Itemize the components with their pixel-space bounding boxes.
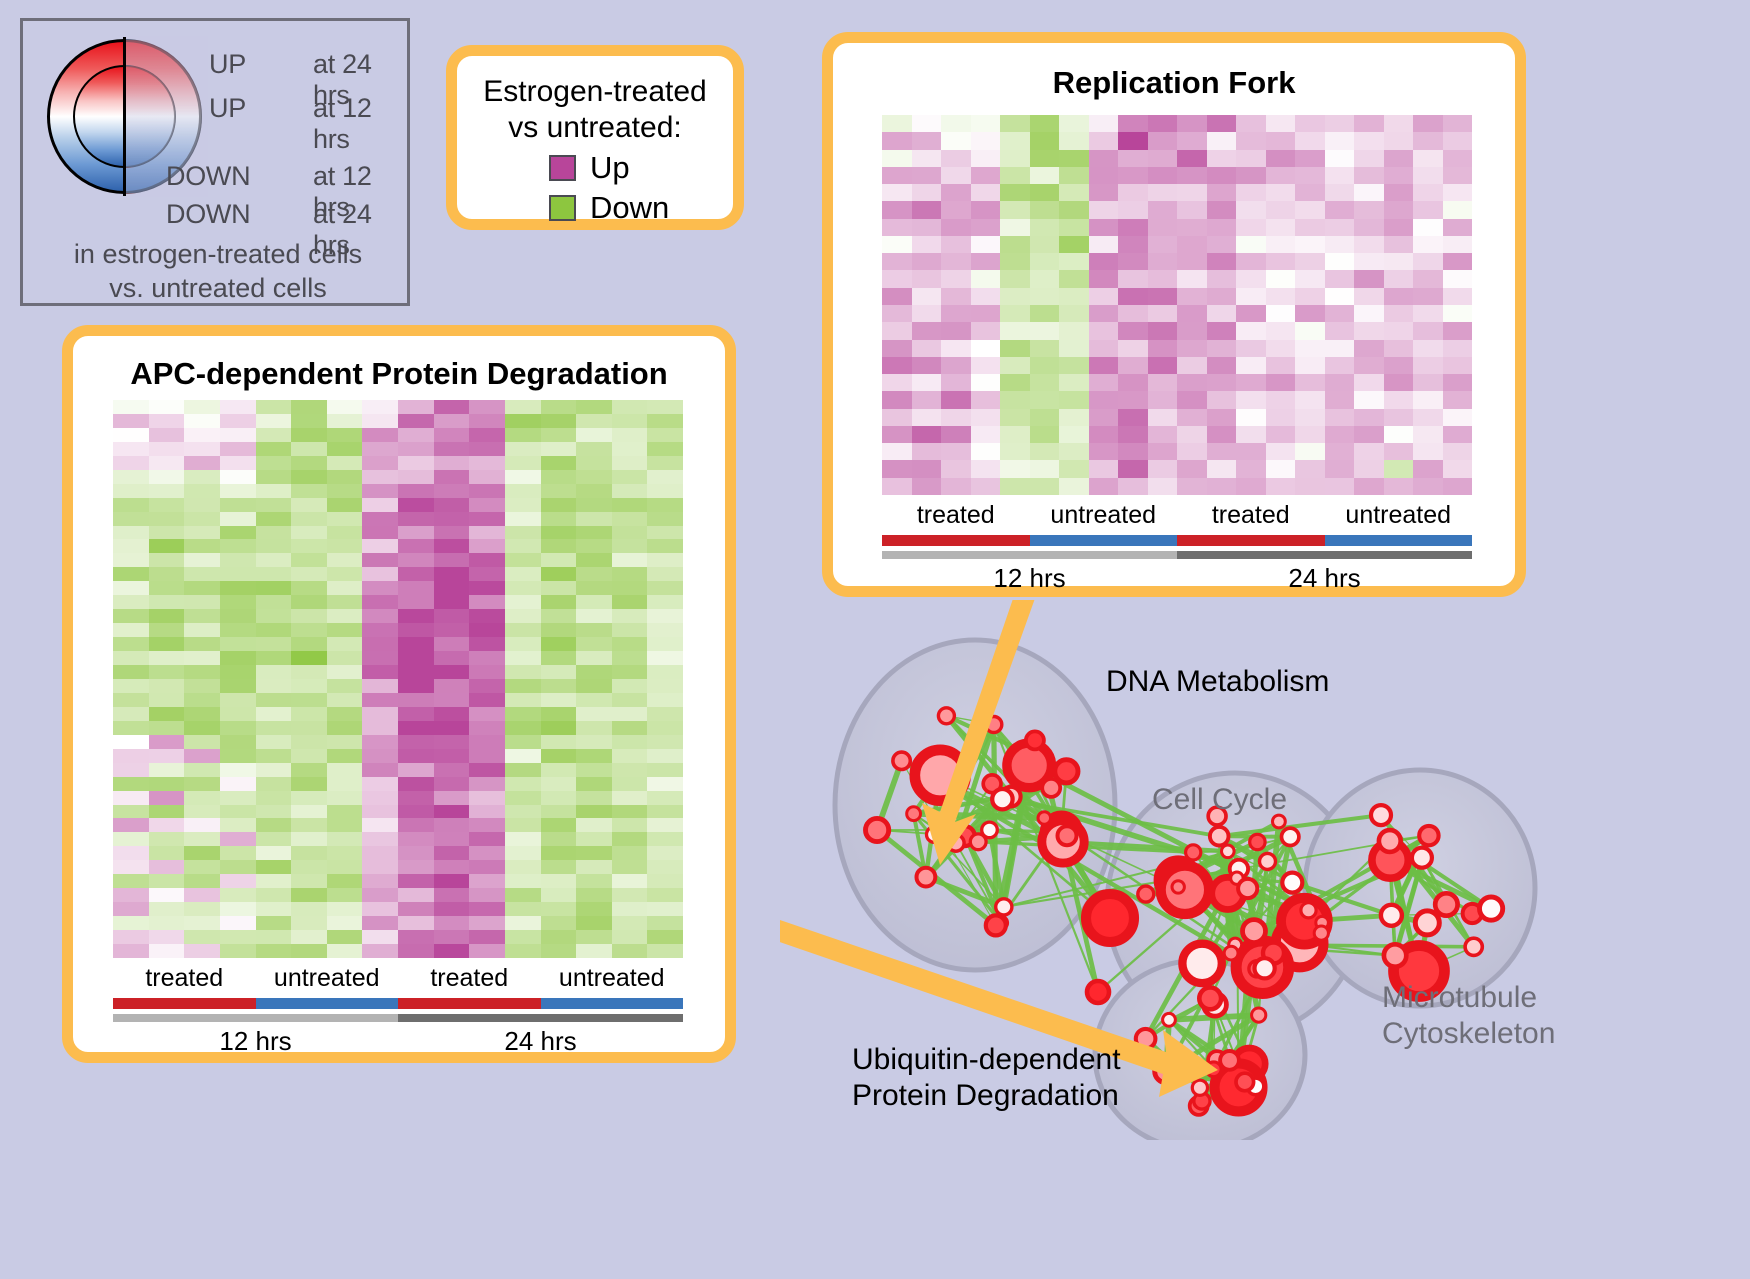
heatmap-cell xyxy=(1443,201,1473,218)
heatmap-cell xyxy=(1354,132,1384,149)
heatmap-cell xyxy=(327,651,363,665)
network-node[interactable] xyxy=(1220,1051,1239,1070)
heatmap-cell xyxy=(220,902,256,916)
heatmap-cell xyxy=(1030,219,1060,236)
heatmap-cell xyxy=(434,902,470,916)
heatmap-cell xyxy=(971,184,1001,201)
heatmap-cell xyxy=(1059,115,1089,132)
network-node[interactable] xyxy=(1260,853,1276,869)
heatmap-cell xyxy=(505,665,541,679)
heatmap-cell xyxy=(149,442,185,456)
heatmap-cell xyxy=(612,512,648,526)
heatmap-cell xyxy=(1354,184,1384,201)
heatmap-cell xyxy=(505,456,541,470)
heatmap-cell xyxy=(184,707,220,721)
network-node[interactable] xyxy=(1087,981,1109,1003)
heatmap-cell xyxy=(327,609,363,623)
heatmap-cell xyxy=(541,400,577,414)
heatmap-cell xyxy=(1059,409,1089,426)
heatmap-cell xyxy=(541,749,577,763)
network-node[interactable] xyxy=(982,822,998,838)
heatmap-cell xyxy=(912,340,942,357)
heatmap-cell xyxy=(1443,115,1473,132)
heatmap-cell xyxy=(434,553,470,567)
heatmap-cell xyxy=(1443,391,1473,408)
network-node[interactable] xyxy=(1379,830,1401,852)
heatmap-cell xyxy=(1266,426,1296,443)
heatmap-cell xyxy=(541,805,577,819)
heatmap-cell xyxy=(220,456,256,470)
network-node[interactable] xyxy=(1465,938,1482,955)
heatmap-cell xyxy=(541,916,577,930)
sample-label: treated xyxy=(1177,501,1325,530)
heatmap-cell xyxy=(1443,167,1473,184)
heatmap-cell xyxy=(362,693,398,707)
heatmap-cell xyxy=(1030,288,1060,305)
heatmap-cell xyxy=(1000,270,1030,287)
heatmap-cell xyxy=(113,832,149,846)
heatmap-cell xyxy=(1177,357,1207,374)
heatmap-cell xyxy=(1148,426,1178,443)
heatmap-cell xyxy=(291,623,327,637)
heatmap-cell xyxy=(362,567,398,581)
heatmap-cell xyxy=(882,340,912,357)
heatmap-cell xyxy=(327,902,363,916)
heatmap-cell xyxy=(1030,150,1060,167)
heatmap-cell xyxy=(505,791,541,805)
heatmap-cell xyxy=(398,581,434,595)
heatmap-cell xyxy=(1059,150,1089,167)
heatmap-cell xyxy=(398,721,434,735)
heatmap-cell xyxy=(612,860,648,874)
heatmap-cell xyxy=(1000,201,1030,218)
heatmap-cell xyxy=(184,665,220,679)
heatmap-cell xyxy=(469,442,505,456)
heatmap-cell xyxy=(576,721,612,735)
heatmap-cell xyxy=(256,400,292,414)
heatmap-cell xyxy=(1118,374,1148,391)
network-node[interactable] xyxy=(1419,826,1438,845)
heatmap-cell xyxy=(1295,132,1325,149)
heatmap-cell xyxy=(434,526,470,540)
heatmap-cell xyxy=(1118,236,1148,253)
heatmap-cell xyxy=(327,805,363,819)
heatmap-cell xyxy=(256,805,292,819)
heatmap-cell xyxy=(1384,460,1414,477)
heatmap-cell xyxy=(647,735,683,749)
heatmap-cell xyxy=(1030,409,1060,426)
heatmap-cell xyxy=(469,902,505,916)
network-node[interactable] xyxy=(1381,905,1402,926)
heatmap-cell xyxy=(612,609,648,623)
heatmap-cell xyxy=(220,623,256,637)
heatmap-cell xyxy=(1148,150,1178,167)
replication-fork-panel: Replication Fork treateduntreatedtreated… xyxy=(822,32,1526,597)
heatmap-cell xyxy=(327,679,363,693)
sample-bar-segment xyxy=(1030,535,1178,546)
heatmap-cell xyxy=(541,930,577,944)
heatmap-cell xyxy=(882,236,912,253)
network-node[interactable] xyxy=(907,807,921,821)
heatmap-cell xyxy=(184,874,220,888)
network-node[interactable] xyxy=(1186,845,1201,860)
heatmap-cell xyxy=(1413,374,1443,391)
heatmap-cell xyxy=(1295,322,1325,339)
heatmap-cell xyxy=(971,460,1001,477)
heatmap-cell xyxy=(1266,253,1296,270)
heatmap-cell xyxy=(1266,132,1296,149)
heatmap-cell xyxy=(971,305,1001,322)
network-node[interactable] xyxy=(1243,920,1266,943)
replication-time-color-bar xyxy=(882,551,1472,559)
heatmap-cell xyxy=(1207,478,1237,495)
heatmap-cell xyxy=(1118,322,1148,339)
heatmap-cell xyxy=(1207,443,1237,460)
heatmap-cell xyxy=(1384,236,1414,253)
heatmap-cell xyxy=(113,539,149,553)
heatmap-cell xyxy=(912,184,942,201)
heatmap-cell xyxy=(220,400,256,414)
heatmap-cell xyxy=(256,874,292,888)
network-node[interactable] xyxy=(1415,911,1439,935)
heatmap-cell xyxy=(434,693,470,707)
heatmap-cell xyxy=(1118,150,1148,167)
heatmap-cell xyxy=(1177,201,1207,218)
heatmap-cell xyxy=(1354,253,1384,270)
heatmap-cell xyxy=(256,763,292,777)
heatmap-cell xyxy=(541,693,577,707)
network-node[interactable] xyxy=(1238,879,1257,898)
heatmap-cell xyxy=(941,391,971,408)
heatmap-cell xyxy=(971,167,1001,184)
replication-sample-labels: treateduntreatedtreateduntreated xyxy=(882,501,1472,530)
heatmap-cell xyxy=(1089,409,1119,426)
network-node[interactable] xyxy=(1224,946,1238,960)
legend-state-down-12: DOWN xyxy=(166,161,250,192)
heatmap-cell xyxy=(1000,150,1030,167)
network-node[interactable] xyxy=(1182,944,1221,983)
network-node[interactable] xyxy=(917,868,936,887)
heatmap-cell xyxy=(362,777,398,791)
network-node[interactable] xyxy=(1086,894,1134,942)
heatmap-cell xyxy=(912,478,942,495)
heatmap-cell xyxy=(912,391,942,408)
heatmap-cell xyxy=(1177,288,1207,305)
heatmap-cell xyxy=(1443,478,1473,495)
heatmap-cell xyxy=(1295,167,1325,184)
heatmap-cell xyxy=(113,498,149,512)
heatmap-cell xyxy=(398,526,434,540)
heatmap-cell xyxy=(1118,115,1148,132)
heatmap-cell xyxy=(1177,340,1207,357)
heatmap-cell xyxy=(1384,340,1414,357)
heatmap-cell xyxy=(971,357,1001,374)
heatmap-cell xyxy=(971,253,1001,270)
heatmap-cell xyxy=(113,414,149,428)
heatmap-cell xyxy=(362,442,398,456)
heatmap-cell xyxy=(184,428,220,442)
heatmap-cell xyxy=(1236,132,1266,149)
network-node[interactable] xyxy=(1371,805,1391,825)
heatmap-cell xyxy=(220,860,256,874)
network-node[interactable] xyxy=(1252,1008,1266,1022)
heatmap-cell xyxy=(362,623,398,637)
heatmap-cell xyxy=(398,679,434,693)
heatmap-cell xyxy=(1030,115,1060,132)
heatmap-cell xyxy=(327,456,363,470)
heatmap-cell xyxy=(256,860,292,874)
heatmap-cell xyxy=(1266,236,1296,253)
heatmap-cell xyxy=(1295,219,1325,236)
heatmap-cell xyxy=(149,400,185,414)
heatmap-cell xyxy=(1325,426,1355,443)
heatmap-cell xyxy=(469,665,505,679)
heatmap-cell xyxy=(113,805,149,819)
heatmap-cell xyxy=(220,595,256,609)
heatmap-cell xyxy=(362,400,398,414)
heatmap-cell xyxy=(434,400,470,414)
network-node[interactable] xyxy=(1138,886,1154,902)
heatmap-cell xyxy=(541,735,577,749)
heatmap-cell xyxy=(434,860,470,874)
heatmap-cell xyxy=(434,777,470,791)
network-node[interactable] xyxy=(1314,926,1328,940)
network-node[interactable] xyxy=(986,915,1006,935)
network-node[interactable] xyxy=(1301,903,1316,918)
heatmap-cell xyxy=(1118,184,1148,201)
heatmap-cell xyxy=(1089,115,1119,132)
heatmap-cell xyxy=(149,609,185,623)
heatmap-cell xyxy=(505,414,541,428)
heatmap-cell xyxy=(541,791,577,805)
heatmap-cell xyxy=(647,581,683,595)
heatmap-cell xyxy=(1325,322,1355,339)
heatmap-cell xyxy=(1207,409,1237,426)
network-node[interactable] xyxy=(1172,881,1184,893)
heatmap-cell xyxy=(362,846,398,860)
time-label: 24 hrs xyxy=(1177,563,1472,594)
network-node[interactable] xyxy=(1282,828,1299,845)
heatmap-cell xyxy=(291,749,327,763)
network-node[interactable] xyxy=(1384,944,1406,966)
heatmap-cell xyxy=(1207,115,1237,132)
network-node[interactable] xyxy=(1192,1080,1207,1095)
heatmap-cell xyxy=(469,484,505,498)
heatmap-cell xyxy=(469,637,505,651)
network-node[interactable] xyxy=(1273,815,1286,828)
heatmap-cell xyxy=(1030,201,1060,218)
network-node[interactable] xyxy=(938,708,954,724)
heatmap-cell xyxy=(291,498,327,512)
heatmap-cell xyxy=(469,456,505,470)
heatmap-cell xyxy=(1207,167,1237,184)
heatmap-cell xyxy=(256,832,292,846)
heatmap-cell xyxy=(1413,357,1443,374)
network-node[interactable] xyxy=(1038,812,1051,825)
network-node[interactable] xyxy=(1222,845,1235,858)
heatmap-cell xyxy=(1384,132,1414,149)
network-node[interactable] xyxy=(1210,827,1229,846)
network-node[interactable] xyxy=(1026,731,1044,749)
heatmap-cell xyxy=(647,442,683,456)
heatmap-cell xyxy=(434,735,470,749)
heatmap-cell xyxy=(912,150,942,167)
heatmap-cell xyxy=(882,391,912,408)
heatmap-cell xyxy=(647,623,683,637)
heatmap-cell xyxy=(541,721,577,735)
heatmap-cell xyxy=(291,595,327,609)
heatmap-cell xyxy=(256,916,292,930)
heatmap-cell xyxy=(434,609,470,623)
heatmap-cell xyxy=(612,526,648,540)
heatmap-cell xyxy=(1266,305,1296,322)
network-node[interactable] xyxy=(1199,988,1221,1010)
heatmap-cell xyxy=(1413,391,1443,408)
heatmap-cell xyxy=(1030,305,1060,322)
network-node[interactable] xyxy=(1412,848,1432,868)
heatmap-cell xyxy=(1148,478,1178,495)
heatmap-cell xyxy=(612,442,648,456)
heatmap-cell xyxy=(327,832,363,846)
heatmap-cell xyxy=(1354,167,1384,184)
network-node[interactable] xyxy=(1163,1013,1176,1026)
heatmap-cell xyxy=(1030,391,1060,408)
heatmap-cell xyxy=(505,874,541,888)
heatmap-cell xyxy=(1413,201,1443,218)
heatmap-cell xyxy=(541,470,577,484)
heatmap-cell xyxy=(912,167,942,184)
heatmap-cell xyxy=(256,539,292,553)
heatmap-cell xyxy=(1295,115,1325,132)
heatmap-cell xyxy=(505,609,541,623)
heatmap-cell xyxy=(1000,460,1030,477)
heatmap-cell xyxy=(1295,305,1325,322)
heatmap-cell xyxy=(1148,391,1178,408)
network-node[interactable] xyxy=(1236,1073,1254,1091)
heatmap-cell xyxy=(220,735,256,749)
heatmap-cell xyxy=(220,651,256,665)
network-node[interactable] xyxy=(866,818,889,841)
heatmap-cell xyxy=(256,456,292,470)
label-ubiquitin-line2: Protein Degradation xyxy=(852,1079,1119,1113)
network-node[interactable] xyxy=(996,899,1012,915)
heatmap-cell xyxy=(362,581,398,595)
network-node[interactable] xyxy=(1480,897,1503,920)
heatmap-cell xyxy=(1207,253,1237,270)
heatmap-cell xyxy=(113,707,149,721)
heatmap-cell xyxy=(434,679,470,693)
heatmap-cell xyxy=(220,637,256,651)
heatmap-cell xyxy=(505,498,541,512)
heatmap-cell xyxy=(1266,288,1296,305)
heatmap-cell xyxy=(1236,391,1266,408)
heatmap-cell xyxy=(541,679,577,693)
network-node[interactable] xyxy=(1435,893,1457,915)
heatmap-cell xyxy=(1000,115,1030,132)
network-node[interactable] xyxy=(1058,826,1077,845)
heatmap-cell xyxy=(398,609,434,623)
heatmap-cell xyxy=(1207,460,1237,477)
network-node[interactable] xyxy=(1282,873,1302,893)
heatmap-cell xyxy=(1413,115,1443,132)
heatmap-cell xyxy=(184,484,220,498)
sample-bar-segment xyxy=(398,998,541,1009)
heatmap-cell xyxy=(113,749,149,763)
network-node[interactable] xyxy=(1055,760,1078,783)
heatmap-cell xyxy=(1030,374,1060,391)
heatmap-cell xyxy=(612,735,648,749)
heatmap-cell xyxy=(1236,201,1266,218)
heatmap-cell xyxy=(256,567,292,581)
heatmap-cell xyxy=(576,846,612,860)
heatmap-cell xyxy=(505,637,541,651)
heatmap-cell xyxy=(434,916,470,930)
down-color-swatch xyxy=(549,195,576,221)
heatmap-cell xyxy=(1295,270,1325,287)
heatmap-cell xyxy=(149,902,185,916)
heatmap-cell xyxy=(971,340,1001,357)
heatmap-cell xyxy=(912,132,942,149)
heatmap-cell xyxy=(1089,236,1119,253)
heatmap-cell xyxy=(1325,340,1355,357)
heatmap-cell xyxy=(1177,409,1207,426)
heatmap-cell xyxy=(327,414,363,428)
heatmap-cell xyxy=(291,916,327,930)
heatmap-cell xyxy=(327,581,363,595)
heatmap-cell xyxy=(256,512,292,526)
heatmap-cell xyxy=(220,777,256,791)
legend-item-up: Up xyxy=(549,150,630,186)
heatmap-cell xyxy=(220,818,256,832)
network-node[interactable] xyxy=(1250,834,1265,849)
heatmap-cell xyxy=(541,526,577,540)
heatmap-cell xyxy=(434,498,470,512)
heatmap-cell xyxy=(469,832,505,846)
network-node[interactable] xyxy=(893,752,910,769)
heatmap-cell xyxy=(941,150,971,167)
heatmap-cell xyxy=(1207,219,1237,236)
heatmap-cell xyxy=(220,707,256,721)
heatmap-cell xyxy=(576,693,612,707)
heatmap-cell xyxy=(505,916,541,930)
heatmap-cell xyxy=(398,665,434,679)
heatmap-cell xyxy=(612,832,648,846)
heatmap-cell xyxy=(184,539,220,553)
network-node[interactable] xyxy=(1255,958,1275,978)
heatmap-cell xyxy=(469,567,505,581)
heatmap-cell xyxy=(1148,322,1178,339)
network-node[interactable] xyxy=(1042,779,1060,797)
heatmap-cell xyxy=(184,749,220,763)
heatmap-cell xyxy=(398,707,434,721)
heatmap-cell xyxy=(541,623,577,637)
heatmap-cell xyxy=(362,553,398,567)
heatmap-cell xyxy=(541,944,577,958)
heatmap-cell xyxy=(1384,478,1414,495)
network-node[interactable] xyxy=(992,789,1012,809)
heatmap-cell xyxy=(256,846,292,860)
heatmap-cell xyxy=(1236,184,1266,201)
heatmap-cell xyxy=(1118,340,1148,357)
heatmap-cell xyxy=(149,679,185,693)
heatmap-cell xyxy=(912,253,942,270)
heatmap-cell xyxy=(1148,288,1178,305)
sample-bar-segment xyxy=(1325,535,1473,546)
sample-label: untreated xyxy=(1325,501,1473,530)
heatmap-cell xyxy=(882,478,912,495)
heatmap-cell xyxy=(149,651,185,665)
heatmap-cell xyxy=(505,679,541,693)
